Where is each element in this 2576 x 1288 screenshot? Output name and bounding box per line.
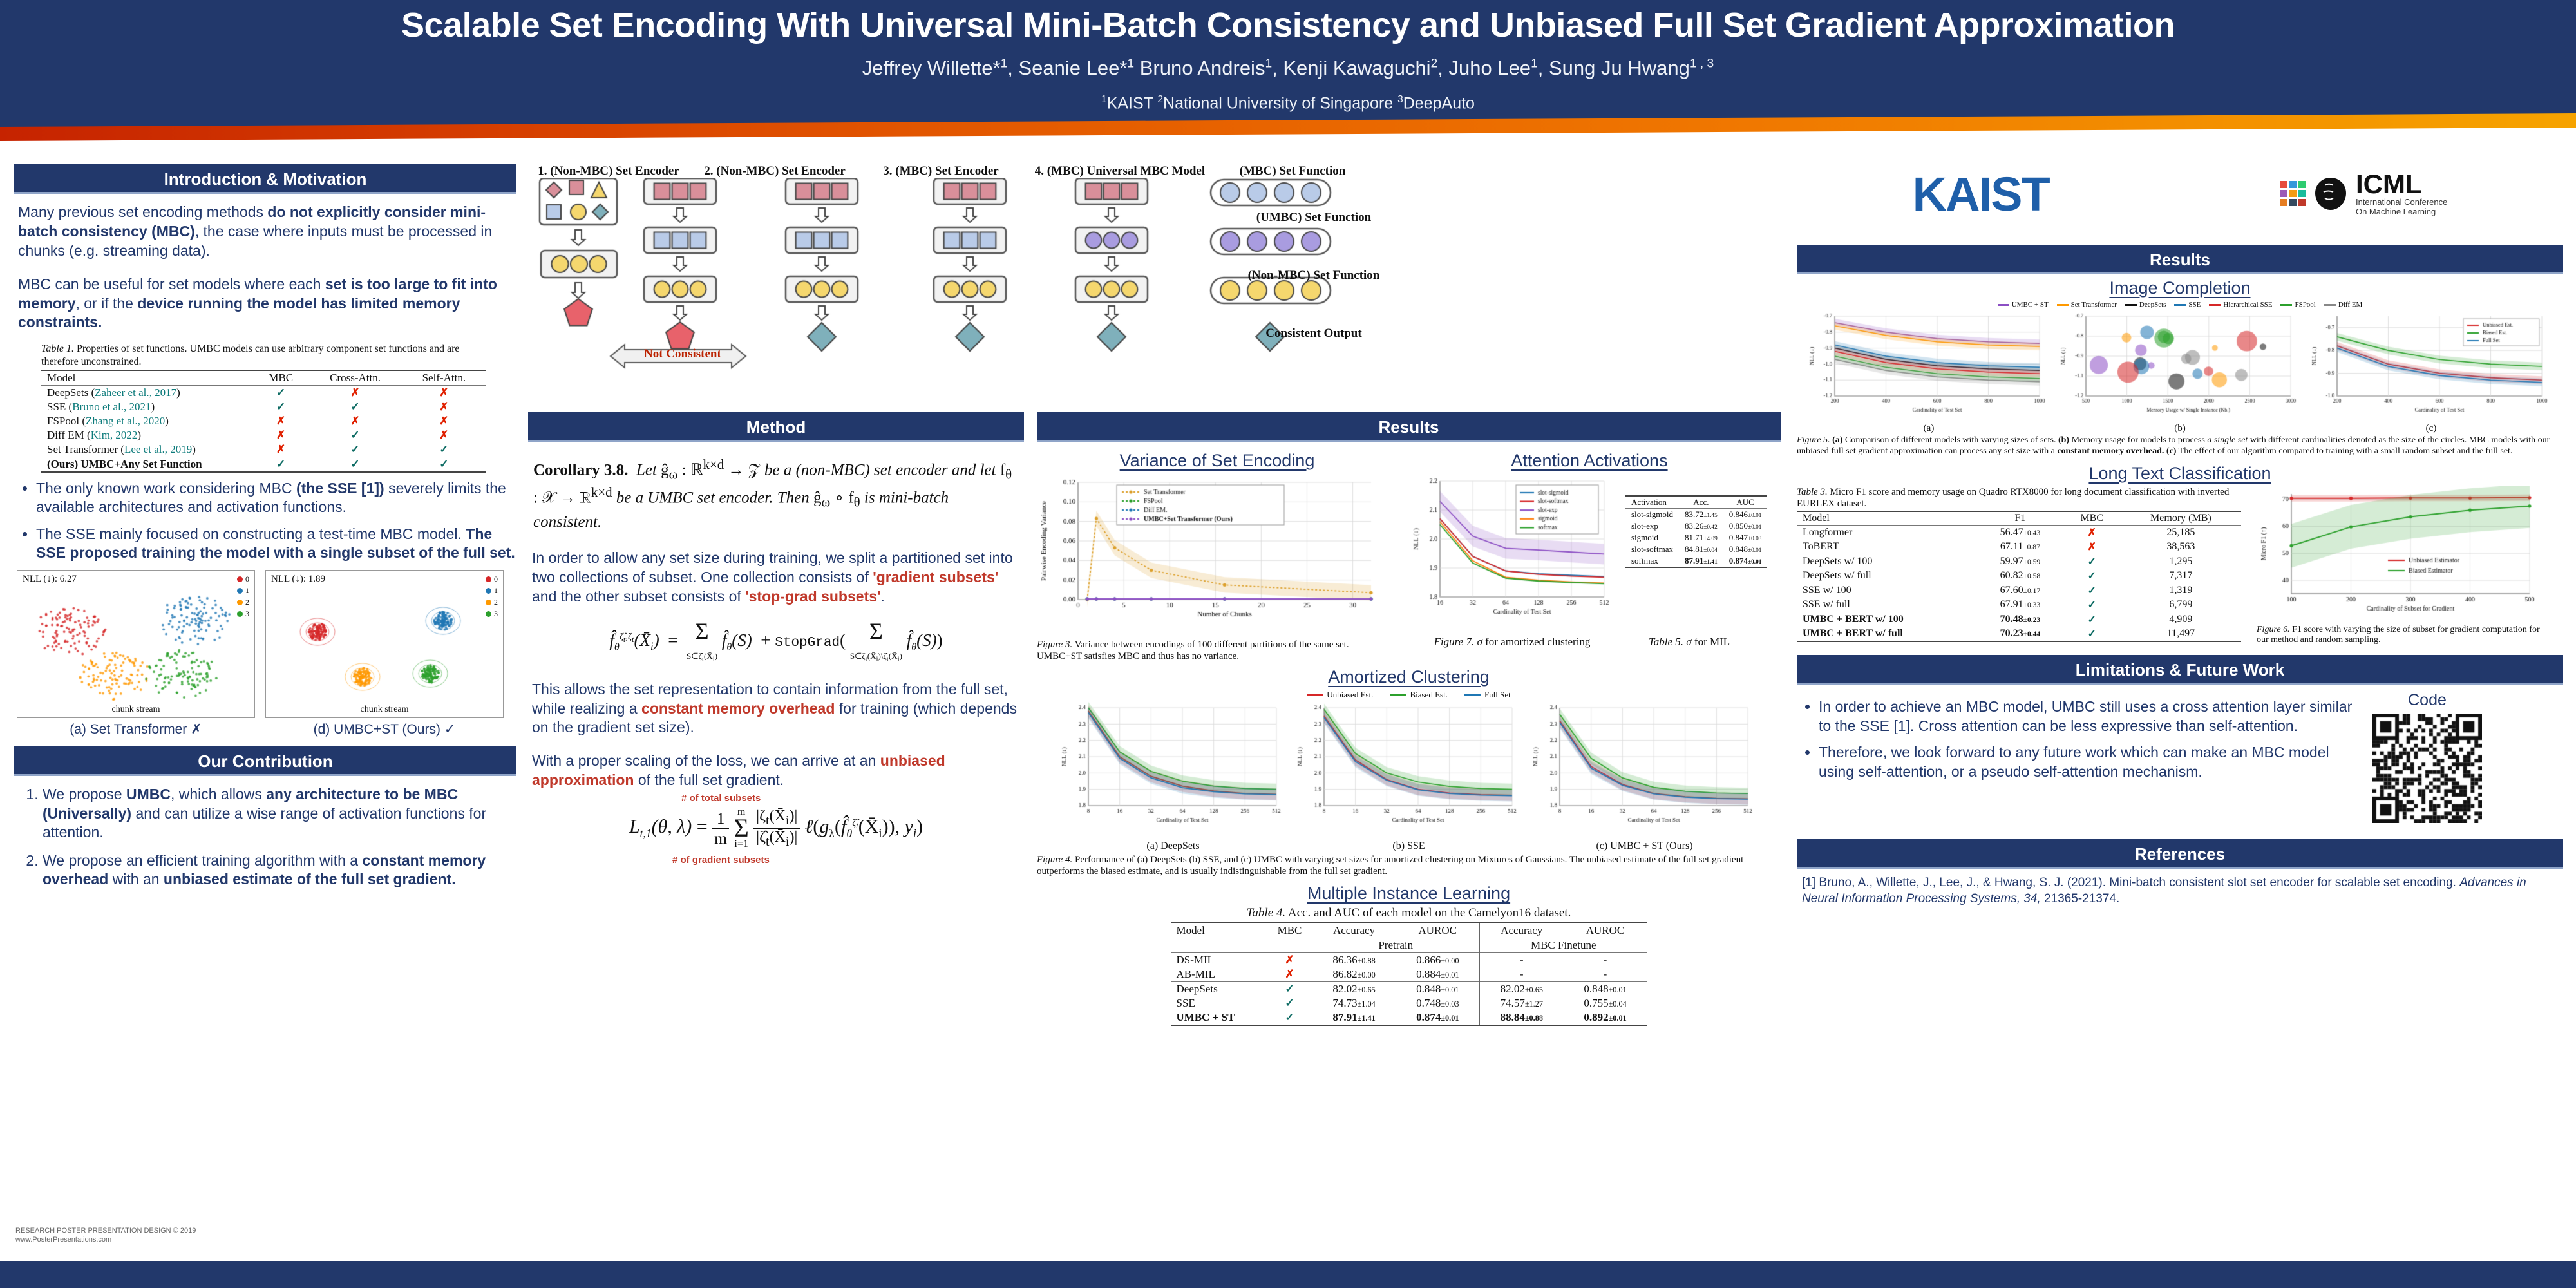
fig4-panel-label-b: (b) SSE [1293,840,1525,852]
cell-mbc: ✗ [254,414,308,428]
table1-col-model: Model [41,370,254,386]
cell-model: FSPool (Zhang et al., 2020) [41,414,254,428]
table-row: UMBC + ST ✓ 87.91±1.41 0.874±0.01 88.84±… [1171,1010,1647,1025]
fig4-panel-label-a: (a) DeepSets [1057,840,1289,852]
figure3-caption: Figure 3. Variance between encodings of … [1037,639,1388,662]
figure5-legend: UMBC + ST Set Transformer DeepSets SSE H… [1797,301,2563,308]
credit-line-1: RESEARCH POSTER PRESENTATION DESIGN © 20… [15,1227,196,1236]
cell-activation: slot-sigmoid [1625,509,1679,521]
cell-mbc: ✓ [2063,569,2121,583]
cell-mbc: ✓ [2063,598,2121,612]
table-row: Set Transformer (Lee et al., 2019) ✗ ✓ ✓ [41,442,486,457]
legend-swatch [1998,304,2009,306]
table3-col-f1: F1 [1977,511,2063,526]
figure4-legend: Unbiased Est. Biased Est. Full Set [1037,690,1781,700]
cell-f1: 67.60±0.17 [1977,583,2063,598]
cell-acc: 87.91±1.41 [1679,555,1723,567]
cell-mbc: ✗ [254,428,308,442]
subhead-long-text: Long Text Classification [1797,464,2563,484]
tsne-figure-right: NLL (↓): 1.89 0 1 2 3 chunk stream (d) U… [265,570,504,737]
cell-mbc: ✓ [2063,612,2121,627]
cell-memory: 25,185 [2121,525,2241,540]
cell-self: ✗ [402,400,486,414]
table-row: UMBC + BERT w/ 100 70.48±0.23 ✓ 4,909 [1797,612,2241,627]
cell-model: DeepSets w/ full [1797,569,1977,583]
kaist-logo: KAIST [1913,167,2049,222]
cell-auc: 0.846±0.01 [1723,509,1768,521]
figure6-block: Figure 6. F1 score with varying the size… [2257,486,2553,647]
table4-col-model: Model [1171,923,1267,938]
cell-model: SSE (Bruno et al., 2021) [41,400,254,414]
diagram-label-consistent-output: Consistent Output [1236,327,1391,341]
equation-annotation-gradient-subsets: # of gradient subsets [672,855,770,866]
cell-memory: 7,317 [2121,569,2241,583]
tsne-figure-pair: NLL (↓): 6.27 0 1 2 3 chunk stream (a) S… [17,570,514,737]
chart-amortized-sse [1293,701,1525,837]
table3-col-mbc: MBC [2063,511,2121,526]
icml-title: ICML [2356,171,2447,197]
section-header-results-right: Results [1797,245,2563,274]
fig4-legend-2: Full Set [1484,690,1511,700]
limitations-row: In order to achieve an MBC model, UMBC s… [1797,691,2563,826]
table-row: SSE (Bruno et al., 2021) ✓ ✓ ✗ [41,400,486,414]
table-row: sigmoid 81.71±4.09 0.847±0.03 [1625,532,1767,544]
logo-row: KAIST ICML International Conference On M… [1797,152,2563,236]
cell-mbc: ✓ [1267,996,1312,1010]
table4-col-acc1: Accuracy [1312,923,1396,938]
diagram-titles-row: 1. (Non-MBC) Set Encoder 2. (Non-MBC) Se… [528,164,1391,178]
cell-memory: 1,319 [2121,583,2241,598]
diagram-title-3: 3. (MBC) Set Encoder [860,164,1021,178]
fig5-label-a: (a) [1805,422,2053,434]
poster-presentations-credit: RESEARCH POSTER PRESENTATION DESIGN © 20… [15,1227,196,1245]
cell-model: UMBC + BERT w/ 100 [1797,612,1977,627]
table-row: DeepSets ✓ 82.02±0.65 0.848±0.01 82.02±0… [1171,981,1647,996]
cell-self: ✓ [402,442,486,457]
legend-item: Diff EM [2324,301,2362,308]
intro-bullet-list: The only known work considering MBC (the… [36,479,516,563]
table5-body: slot-sigmoid 83.72±1.45 0.846±0.01 slot-… [1625,509,1767,568]
icml-subtitle-1: International Conference [2356,197,2447,207]
cell-auc: 0.848±0.01 [1723,544,1768,555]
cell-f1: 70.23±0.44 [1977,627,2063,641]
cell-memory: 1,295 [2121,554,2241,569]
table3: Model F1 MBC Memory (MB) Longformer 56.4… [1797,511,2241,642]
table4-col-mbc: MBC [1267,923,1312,938]
table-row: SSE w/ 100 67.60±0.17 ✓ 1,319 [1797,583,2241,598]
table-row: slot-softmax 84.81±0.04 0.848±0.01 [1625,544,1767,555]
section-header-contribution: Our Contribution [14,746,516,776]
cell-activation: slot-softmax [1625,544,1679,555]
cell-model: Diff EM (Kim, 2022) [41,428,254,442]
legend-swatch [2280,304,2292,306]
cell-model: DeepSets w/ 100 [1797,554,1977,569]
list-item: In order to achieve an MBC model, UMBC s… [1819,697,2360,735]
chart-variance-of-set-encoding [1037,473,1388,634]
corollary-3-8: Corollary 3.8. Let ĝω : ℝk×d → 𝒵 be a (n… [533,456,1019,533]
figure7-caption: Figure 7. σ for amortized clustering [1409,636,1615,649]
tsne-right-caption: (d) UMBC+ST (Ours) ✓ [265,721,504,737]
figure6-caption: Figure 6. F1 score with varying the size… [2257,625,2553,647]
cell-f1: 67.91±0.33 [1977,598,2063,612]
cell-acc-finetune: 74.57±1.27 [1480,996,1564,1010]
results-top-row: Variance of Set Encoding Figure 3. Varia… [1037,447,1781,662]
cell-cross: ✓ [308,428,402,442]
icml-logo: ICML International Conference On Machine… [2280,171,2447,216]
table1-header-row: Model MBC Cross-Attn. Self-Attn. [41,370,486,386]
equation-umbc-partition: f̂θζ̂t,ζt(X̄i) = Σ S∈ζ̂t(X̄i) f̂θ(S) + S… [528,621,1024,663]
legend-item: FSPool [2280,301,2315,308]
table-row: Longformer 56.47±0.43 ✗ 25,185 [1797,525,2241,540]
cell-model: SSE w/ 100 [1797,583,1977,598]
cell-auc: 0.874±0.01 [1723,555,1768,567]
table3-header-row: Model F1 MBC Memory (MB) [1797,511,2241,526]
table3-caption: Table 3. Micro F1 score and memory usage… [1797,486,2248,509]
table-row: ToBERT 67.11±0.87 ✗ 38,563 [1797,540,2241,554]
cell-acc-finetune: 82.02±0.65 [1480,981,1564,996]
subhead-attention: Attention Activations [1409,451,1770,471]
legend-item: UMBC + ST [1998,301,2049,308]
list-item: We propose an efficient training algorit… [43,851,516,889]
cell-memory: 11,497 [2121,627,2241,641]
column-results-center: Results Variance of Set Encoding Figure … [1037,412,1781,1026]
tsne-figure-left: NLL (↓): 6.27 0 1 2 3 chunk stream (a) S… [17,570,255,737]
table-row: FSPool (Zhang et al., 2020) ✗ ✗ ✗ [41,414,486,428]
cell-auc-pretrain: 0.848±0.01 [1396,981,1480,996]
figure4-panels: (a) DeepSets (b) SSE (c) UMBC + ST (Ours… [1037,701,1781,852]
table3-body: Longformer 56.47±0.43 ✗ 25,185 ToBERT 67… [1797,525,2241,641]
table-row: slot-sigmoid 83.72±1.45 0.846±0.01 [1625,509,1767,521]
legend-swatch [2057,304,2069,306]
cell-memory: 6,799 [2121,598,2241,612]
cell-mbc: ✓ [2063,583,2121,598]
code-block: Code [2372,691,2482,826]
cell-f1: 70.48±0.23 [1977,612,2063,627]
table3-col-model: Model [1797,511,1977,526]
cell-self: ✗ [402,428,486,442]
cell-auc: 0.850±0.01 [1723,520,1768,532]
section-header-limitations: Limitations & Future Work [1797,655,2563,685]
table-row: DS-MIL ✗ 86.36±0.88 0.866±0.00 - - [1171,952,1647,967]
cell-acc-pretrain: 74.73±1.04 [1312,996,1396,1010]
affiliation-list: 1KAIST 2National University of Singapore… [0,94,2576,113]
table-row: DeepSets (Zaheer et al., 2017) ✓ ✗ ✗ [41,385,486,400]
table4-group-finetune: MBC Finetune [1480,938,1647,952]
cell-model: DeepSets (Zaheer et al., 2017) [41,385,254,400]
table4: Model MBC Accuracy AUROC Accuracy AUROC … [1171,922,1647,1026]
table3-col-mem: Memory (MB) [2121,511,2241,526]
table-row: DeepSets w/ 100 59.97±0.59 ✓ 1,295 [1797,554,2241,569]
cell-memory: 4,909 [2121,612,2241,627]
equation-loss: Lt,1(θ, λ) = 1 m m Σ i=1 |ζt(X̄i)| |ζ̂t(… [528,807,1024,849]
table1-block: Table 1. Properties of set functions. UM… [41,343,492,472]
cell-auc-finetune: 0.848±0.01 [1564,981,1647,996]
table3-block: Table 3. Micro F1 score and memory usage… [1797,486,2248,647]
cell-mbc: ✗ [2063,525,2121,540]
cell-model: ToBERT [1797,540,1977,554]
chart-figure6-f1-vs-subset [2257,486,2546,621]
diagram-label-mbc-set-function: (MBC) Set Function [1218,164,1367,178]
diagram-label-nonmbc-set-function: (Non-MBC) Set Function [1236,269,1391,283]
subhead-image-completion: Image Completion [1797,278,2563,298]
fig4-legend-0: Unbiased Est. [1327,690,1373,700]
cell-mbc: ✗ [2063,540,2121,554]
figure5-panels [1797,310,2563,422]
cell-mbc: ✓ [1267,1010,1312,1025]
cell-acc-pretrain: 86.82±0.00 [1312,967,1396,982]
column-method: Method Corollary 3.8. Let ĝω : ℝk×d → 𝒵 … [528,412,1024,849]
cell-auc-finetune: 0.892±0.01 [1564,1010,1647,1025]
table4-col-auc2: AUROC [1564,923,1647,938]
architecture-diagram: 1. (Non-MBC) Set Encoder 2. (Non-MBC) Se… [528,164,1391,406]
table-row: AB-MIL ✗ 86.82±0.00 0.884±0.01 - - [1171,967,1647,982]
icml-brain-icon [2312,175,2349,213]
equation-annotation-total-subsets: # of total subsets [681,793,761,804]
table1: Model MBC Cross-Attn. Self-Attn. DeepSet… [41,370,486,473]
tsne-right-xlabel: chunk stream [266,705,503,715]
list-item: The SSE mainly focused on constructing a… [36,525,516,563]
cell-self: ✓ [402,457,486,472]
cell-auc-pretrain: 0.884±0.01 [1396,967,1480,982]
cell-acc-finetune: - [1480,952,1564,967]
cell-mbc: ✓ [254,385,308,400]
table1-col-cross: Cross-Attn. [308,370,402,386]
qr-code-icon[interactable] [2372,714,2482,823]
cell-acc-pretrain: 82.02±0.65 [1312,981,1396,996]
subhead-variance: Variance of Set Encoding [1037,451,1397,471]
table5-header-row: Activation Acc. AUC [1625,496,1767,509]
equation-loss-block: # of total subsets Lt,1(θ, λ) = 1 m m Σ … [528,807,1024,849]
list-item: The only known work considering MBC (the… [36,479,516,517]
chart-image-completion-c [2307,310,2555,422]
cell-f1: 60.82±0.58 [1977,569,2063,583]
cell-cross: ✗ [308,385,402,400]
fig5-label-b: (b) [2056,422,2304,434]
cell-memory: 38,563 [2121,540,2241,554]
cell-model: AB-MIL [1171,967,1267,982]
limitations-list: In order to achieve an MBC model, UMBC s… [1819,697,2360,826]
table-row: DeepSets w/ full 60.82±0.58 ✓ 7,317 [1797,569,2241,583]
table5-caption: Table 5. σ for MIL [1622,636,1757,649]
cell-cross: ✓ [308,457,402,472]
cell-acc-pretrain: 86.36±0.88 [1312,952,1396,967]
cell-auc-pretrain: 0.748±0.03 [1396,996,1480,1010]
table-row: SSE w/ full 67.91±0.33 ✓ 6,799 [1797,598,2241,612]
fig4-legend-1: Biased Est. [1410,690,1448,700]
method-paragraph-3: With a proper scaling of the loss, we ca… [532,752,1020,790]
legend-item: SSE [2174,301,2201,308]
cell-model: (Ours) UMBC+Any Set Function [41,457,254,472]
cell-auc-finetune: - [1564,952,1647,967]
diagram-label-umbc-set-function: (UMBC) Set Function [1236,211,1391,225]
cell-activation: slot-exp [1625,520,1679,532]
cell-acc-pretrain: 87.91±1.41 [1312,1010,1396,1025]
legend-swatch [2324,304,2336,306]
cell-mbc: ✓ [2063,554,2121,569]
tsne-left-xlabel: chunk stream [17,705,254,715]
diagram-title-1: 1. (Non-MBC) Set Encoder [528,164,689,178]
intro-paragraph-1: Many previous set encoding methods do no… [18,203,513,261]
cell-self: ✗ [402,414,486,428]
cell-acc-finetune: 88.84±0.88 [1480,1010,1564,1025]
cell-auc-finetune: 0.755±0.04 [1564,996,1647,1010]
method-paragraph-2: This allows the set representation to co… [532,680,1020,738]
variance-block: Variance of Set Encoding Figure 3. Varia… [1037,447,1397,662]
icml-subtitle-2: On Machine Learning [2356,207,2447,216]
table1-col-self: Self-Attn. [402,370,486,386]
cell-model: SSE w/ full [1797,598,1977,612]
section-header-results-center: Results [1037,412,1781,442]
table4-body: DS-MIL ✗ 86.36±0.88 0.866±0.00 - - AB-MI… [1171,952,1647,1025]
column-right: Results Image Completion UMBC + ST Set T… [1797,245,2563,907]
table4-block: Model MBC Accuracy AUROC Accuracy AUROC … [1037,921,1781,1026]
legend-item: Hierarchical SSE [2209,301,2272,308]
cell-acc: 81.71±4.09 [1679,532,1723,544]
table-row: slot-exp 83.26±0.42 0.850±0.01 [1625,520,1767,532]
diagram-title-4: 4. (MBC) Universal MBC Model [1027,164,1213,178]
code-label: Code [2372,691,2482,710]
cell-mbc: ✓ [2063,627,2121,641]
chart-image-completion-b [2056,310,2304,422]
figure4-caption: Figure 4. Performance of (a) DeepSets (b… [1037,854,1781,877]
chart-image-completion-a [1805,310,2053,422]
table4-col-acc2: Accuracy [1480,923,1564,938]
table4-caption: Table 4. Acc. and AUC of each model on t… [1037,906,1781,921]
method-paragraph-1: In order to allow any set size during tr… [532,549,1020,607]
reference-1: [1] Bruno, A., Willette, J., Lee, J., & … [1802,875,2558,907]
section-header-references: References [1797,839,2563,869]
table5-col-acc: Acc. [1679,496,1723,509]
cell-model: SSE [1171,996,1267,1010]
figure5-panel-labels: (a) (b) (c) [1797,422,2563,434]
legend-swatch [2125,304,2137,306]
legend-swatch [2209,304,2221,306]
table5-block: Activation Acc. AUC slot-sigmoid 83.72±1… [1625,473,1767,634]
list-item: We propose UMBC, which allows any archit… [43,785,516,842]
cell-acc: 83.72±1.45 [1679,509,1723,521]
cell-cross: ✓ [308,400,402,414]
page-title: Scalable Set Encoding With Universal Min… [0,5,2576,45]
table-row: (Ours) UMBC+Any Set Function ✓ ✓ ✓ [41,457,486,472]
cell-mbc: ✓ [254,400,308,414]
subhead-mil: Multiple Instance Learning [1037,884,1781,904]
fig5-label-c: (c) [2307,422,2555,434]
cell-mbc: ✗ [1267,967,1312,982]
subhead-amortized: Amortized Clustering [1037,667,1781,687]
table-row: Diff EM (Kim, 2022) ✗ ✓ ✗ [41,428,486,442]
table1-body: DeepSets (Zaheer et al., 2017) ✓ ✗ ✗ SSE… [41,385,486,472]
cell-cross: ✓ [308,442,402,457]
cell-model: UMBC + ST [1171,1010,1267,1025]
table-row: softmax 87.91±1.41 0.874±0.01 [1625,555,1767,567]
chart-amortized-umbc [1529,701,1761,837]
table5-col-activation: Activation [1625,496,1679,509]
cell-model: DS-MIL [1171,952,1267,967]
footer-bar [0,1261,2576,1288]
cell-model: Set Transformer (Lee et al., 2019) [41,442,254,457]
cell-auc: 0.847±0.03 [1723,532,1768,544]
cell-mbc: ✓ [1267,981,1312,996]
table4-header-row: Model MBC Accuracy AUROC Accuracy AUROC [1171,923,1647,938]
credit-line-2: www.PosterPresentations.com [15,1236,196,1245]
diagram-canvas-area: (UMBC) Set Function (Non-MBC) Set Functi… [528,178,1391,391]
attention-block: Attention Activations Activation Acc. AU… [1409,447,1770,662]
long-text-row: Table 3. Micro F1 score and memory usage… [1797,486,2563,647]
table-row: UMBC + BERT w/ full 70.23±0.44 ✓ 11,497 [1797,627,2241,641]
legend-swatch [2174,304,2186,306]
diagram-title-2: 2. (Non-MBC) Set Encoder [694,164,855,178]
cell-model: DeepSets [1171,981,1267,996]
cell-auc-pretrain: 0.874±0.01 [1396,1010,1480,1025]
table5-col-auc: AUC [1723,496,1768,509]
intro-paragraph-2: MBC can be useful for set models where e… [18,275,513,333]
cell-model: Longformer [1797,525,1977,540]
cell-auc-pretrain: 0.866±0.00 [1396,952,1480,967]
cell-f1: 56.47±0.43 [1977,525,2063,540]
fig4-panel-label-c: (c) UMBC + ST (Ours) [1529,840,1761,852]
contribution-list: We propose UMBC, which allows any archit… [43,785,516,889]
table1-col-mbc: MBC [254,370,308,386]
cell-cross: ✗ [308,414,402,428]
chart-attention-activations [1409,473,1622,634]
column-left: Introduction & Motivation Many previous … [14,164,516,898]
legend-item: DeepSets [2125,301,2166,308]
cell-acc-finetune: - [1480,967,1564,982]
cell-mbc: ✓ [254,457,308,472]
list-item: Therefore, we look forward to any future… [1819,743,2360,781]
cell-f1: 67.11±0.87 [1977,540,2063,554]
icml-grid-icon [2280,181,2306,206]
section-header-method: Method [528,412,1024,442]
diagram-label-not-consistent: Not Consistent [644,347,721,361]
cell-auc-finetune: - [1564,967,1647,982]
table1-caption: Table 1. Properties of set functions. UM… [41,343,492,367]
author-list: Jeffrey Willette*1, Seanie Lee*1 Bruno A… [0,57,2576,80]
cell-mbc: ✗ [254,442,308,457]
table4-col-auc1: AUROC [1396,923,1480,938]
table4-group-pretrain: Pretrain [1312,938,1480,952]
cell-model: UMBC + BERT w/ full [1797,627,1977,641]
tsne-left-caption: (a) Set Transformer ✗ [17,721,255,737]
cell-f1: 59.97±0.59 [1977,554,2063,569]
table-row: SSE ✓ 74.73±1.04 0.748±0.03 74.57±1.27 0… [1171,996,1647,1010]
cell-self: ✗ [402,385,486,400]
table4-group-row: Pretrain MBC Finetune [1171,938,1647,952]
chart-amortized-deepsets [1057,701,1289,837]
cell-mbc: ✗ [1267,952,1312,967]
legend-item: Set Transformer [2057,301,2117,308]
cell-activation: sigmoid [1625,532,1679,544]
section-header-introduction: Introduction & Motivation [14,164,516,194]
figure5-caption: Figure 5. (a) Comparison of different mo… [1797,435,2563,457]
table5: Activation Acc. AUC slot-sigmoid 83.72±1… [1625,495,1767,568]
cell-acc: 83.26±0.42 [1679,520,1723,532]
cell-acc: 84.81±0.04 [1679,544,1723,555]
cell-activation: softmax [1625,555,1679,567]
